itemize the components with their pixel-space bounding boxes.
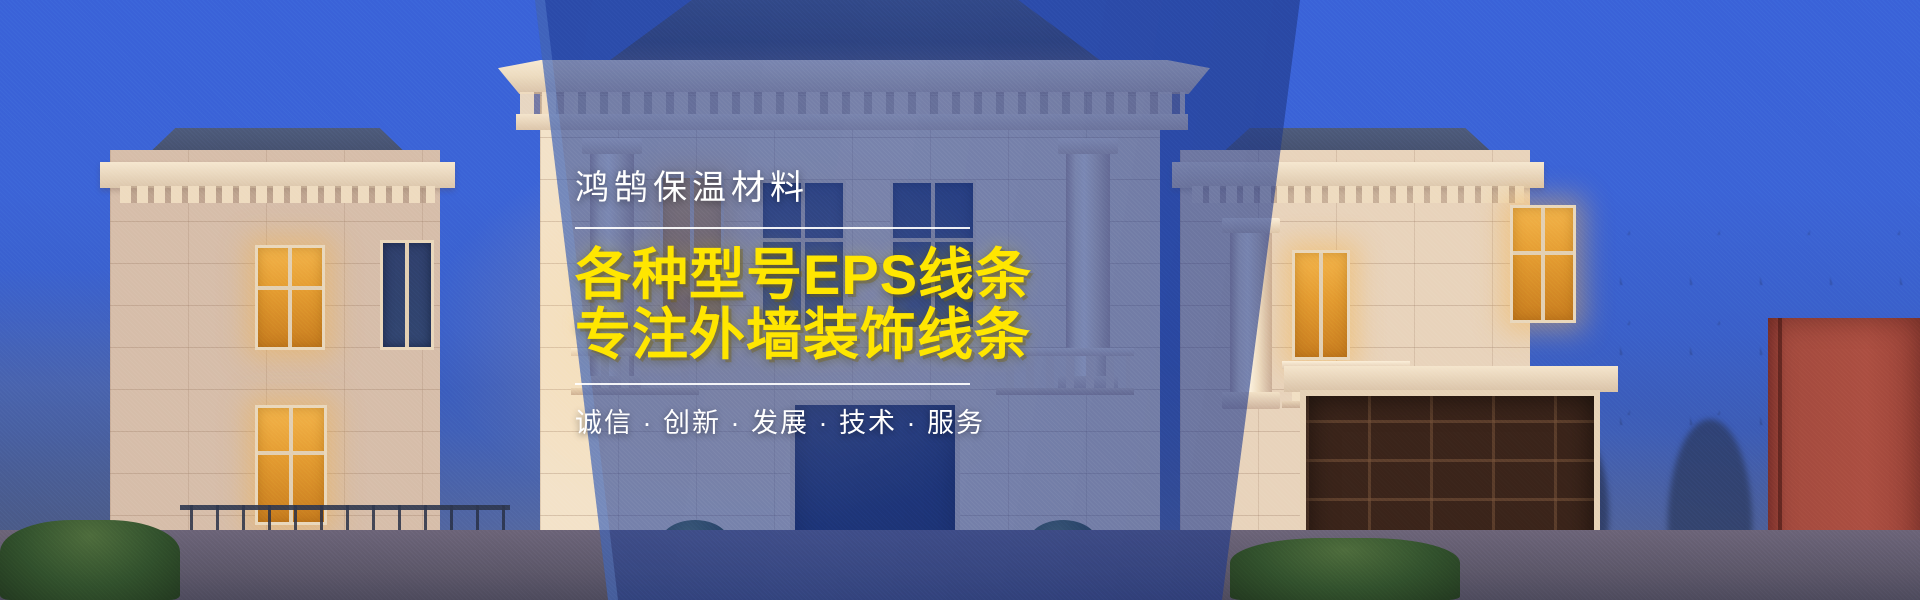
garage-lintel [1284, 366, 1618, 392]
divider-bottom [575, 383, 970, 385]
left-wing-dentils [120, 186, 435, 203]
window-mullion-vertical [1319, 253, 1323, 357]
left-wing-cornice [100, 162, 455, 188]
window-lit [1510, 205, 1576, 323]
window-mullion-horizontal [258, 451, 324, 455]
banner-text-block: 鸿鹄保温材料 各种型号EPS线条 专注外墙装饰线条 诚信 · 创新 · 发展 ·… [575, 0, 1005, 600]
window-lit [255, 245, 325, 350]
window-mullion-vertical [405, 243, 409, 347]
window-dark [380, 240, 434, 350]
divider-top [575, 227, 970, 229]
window-mullion-vertical [1541, 208, 1545, 320]
window-mullion-vertical [288, 248, 292, 347]
brand-name: 鸿鹄保温材料 [575, 160, 1005, 209]
hero-banner: 鸿鹄保温材料 各种型号EPS线条 专注外墙装饰线条 诚信 · 创新 · 发展 ·… [0, 0, 1920, 600]
window-mullion-horizontal [1513, 251, 1573, 255]
headline-line-2: 专注外墙装饰线条 [575, 305, 1005, 365]
window-lit [1292, 250, 1350, 360]
hedge [0, 520, 180, 600]
window-mullion-horizontal [258, 286, 322, 290]
hedge [1230, 538, 1460, 600]
tagline: 诚信 · 创新 · 发展 · 技术 · 服务 [575, 401, 1005, 440]
headline-line-1: 各种型号EPS线条 [575, 245, 1005, 305]
